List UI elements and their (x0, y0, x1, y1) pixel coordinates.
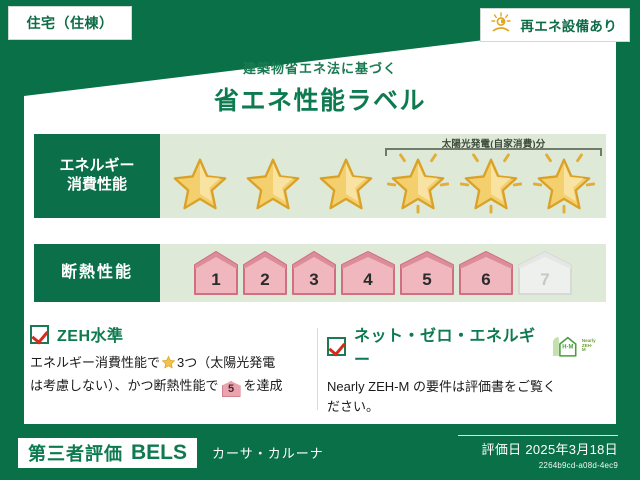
house-level-number: 2 (260, 270, 269, 296)
house-level-number: 1 (211, 270, 220, 296)
renewable-badge-label: 再エネ設備あり (520, 15, 617, 35)
house-level-active: 1 (193, 250, 239, 296)
star-rating (164, 152, 600, 214)
star-filled (315, 153, 377, 213)
energy-label-line2: 消費性能 (67, 176, 127, 195)
energy-performance-row: エネルギー 消費性能 太陽光発電(自家消費)分 (34, 134, 606, 218)
house-level-active: 6 (458, 250, 514, 296)
star-filled (169, 153, 231, 213)
zeh-heading-line: ZEH水準 (30, 322, 299, 346)
house-level-number: 5 (422, 270, 431, 296)
label-footer: 第三者評価 BELS カーサ・カルーナ 評価日 2025年3月18日 2264b… (0, 424, 640, 480)
building-type-label: 住宅（住棟） (27, 13, 114, 33)
page-title: 建築物省エネ法に基づく 省エネ性能ラベル (0, 58, 640, 117)
zeh-heading: ZEH水準 (57, 322, 124, 346)
energy-performance-label: 住宅（住棟） 再エネ設備あり 建築物省エネ法に基づく 省エネ性能ラベル (0, 0, 640, 480)
zeh-checkbox-icon (30, 325, 49, 344)
house-level-number: 6 (481, 270, 490, 296)
zeh-text-part3: は考慮しない）、かつ断熱性能で (30, 378, 219, 393)
inline-level-badge: 5 (222, 381, 241, 397)
house-level-inactive: 7 (517, 250, 573, 296)
energy-rating-panel: 太陽光発電(自家消費)分 (160, 134, 606, 218)
star-solar (460, 153, 522, 213)
zeh-m-logo: H·M Nearly ZEH-M (550, 334, 596, 358)
netzero-text-line2: ださい。 (327, 399, 379, 414)
house-level-number: 7 (540, 270, 549, 296)
renewable-equipment-badge: 再エネ設備あり (480, 8, 630, 42)
title-subtitle: 建築物省エネ法に基づく (0, 58, 640, 77)
building-type-tab: 住宅（住棟） (8, 6, 132, 40)
building-name: カーサ・カルーナ (212, 443, 324, 462)
title-main: 省エネ性能ラベル (0, 81, 640, 117)
energy-label-line1: エネルギー (59, 157, 134, 176)
house-level-active: 3 (291, 250, 337, 296)
evaluation-info: 評価日 2025年3月18日 2264b9cd-a08d-4ec9 (482, 439, 618, 470)
zeh-text-part1: エネルギー消費性能で (30, 355, 160, 370)
house-level-active: 5 (399, 250, 455, 296)
zeh-text-part4: を達成 (244, 378, 283, 393)
zeh-section: ZEH水準 エネルギー消費性能で3つ（太陽光発電は考慮しない）、かつ断熱性能で5… (30, 322, 313, 412)
insulation-row-label: 断熱性能 (34, 244, 160, 302)
zeh-logo-sub2: ZEH-M (582, 344, 596, 353)
house-level-number: 4 (363, 270, 372, 296)
house-level-scale: 1 2 3 4 5 6 7 (160, 244, 606, 302)
insulation-performance-row: 断熱性能 1 2 3 4 5 6 (34, 244, 606, 302)
bels-certification-box: 第三者評価 BELS (18, 438, 197, 468)
bels-jp-label: 第三者評価 (28, 440, 123, 466)
netzero-checkbox-icon (327, 337, 346, 356)
footer-rule (458, 435, 618, 436)
netzero-heading-line: ネット・ゼロ・エネルギー H·M Nearly ZEH-M (327, 322, 596, 370)
certification-columns: ZEH水準 エネルギー消費性能で3つ（太陽光発電は考慮しない）、かつ断熱性能で5… (30, 322, 610, 412)
house-level-number: 3 (309, 270, 318, 296)
netzero-heading: ネット・ゼロ・エネルギー (354, 322, 538, 370)
evaluation-date-label: 評価日 (482, 442, 522, 457)
star-solar (387, 153, 449, 213)
star-filled (242, 153, 304, 213)
zeh-text-part2: 3つ（太陽光発電 (177, 355, 275, 370)
solar-sun-icon (489, 12, 513, 39)
energy-row-label: エネルギー 消費性能 (34, 134, 160, 218)
bels-en-label: BELS (131, 441, 187, 465)
insulation-label-text: 断熱性能 (61, 263, 133, 283)
netzero-text-line1: Nearly ZEH-M の要件は評価書をご覧く (327, 379, 556, 394)
evaluation-id: 2264b9cd-a08d-4ec9 (482, 461, 618, 470)
netzero-description: Nearly ZEH-M の要件は評価書をご覧ください。 (327, 377, 596, 417)
house-level-active: 2 (242, 250, 288, 296)
evaluation-date: 評価日 2025年3月18日 (482, 439, 618, 458)
insulation-rating-panel: 1 2 3 4 5 6 7 (160, 244, 606, 302)
evaluation-date-value: 2025年3月18日 (525, 442, 618, 457)
star-solar (533, 153, 595, 213)
inline-star-icon (161, 355, 176, 376)
svg-text:H·M: H·M (562, 344, 573, 350)
netzero-section: ネット・ゼロ・エネルギー H·M Nearly ZEH-M Nearly ZEH… (313, 322, 610, 412)
zeh-description: エネルギー消費性能で3つ（太陽光発電は考慮しない）、かつ断熱性能で5を達成 (30, 353, 299, 397)
house-level-active: 4 (340, 250, 396, 296)
